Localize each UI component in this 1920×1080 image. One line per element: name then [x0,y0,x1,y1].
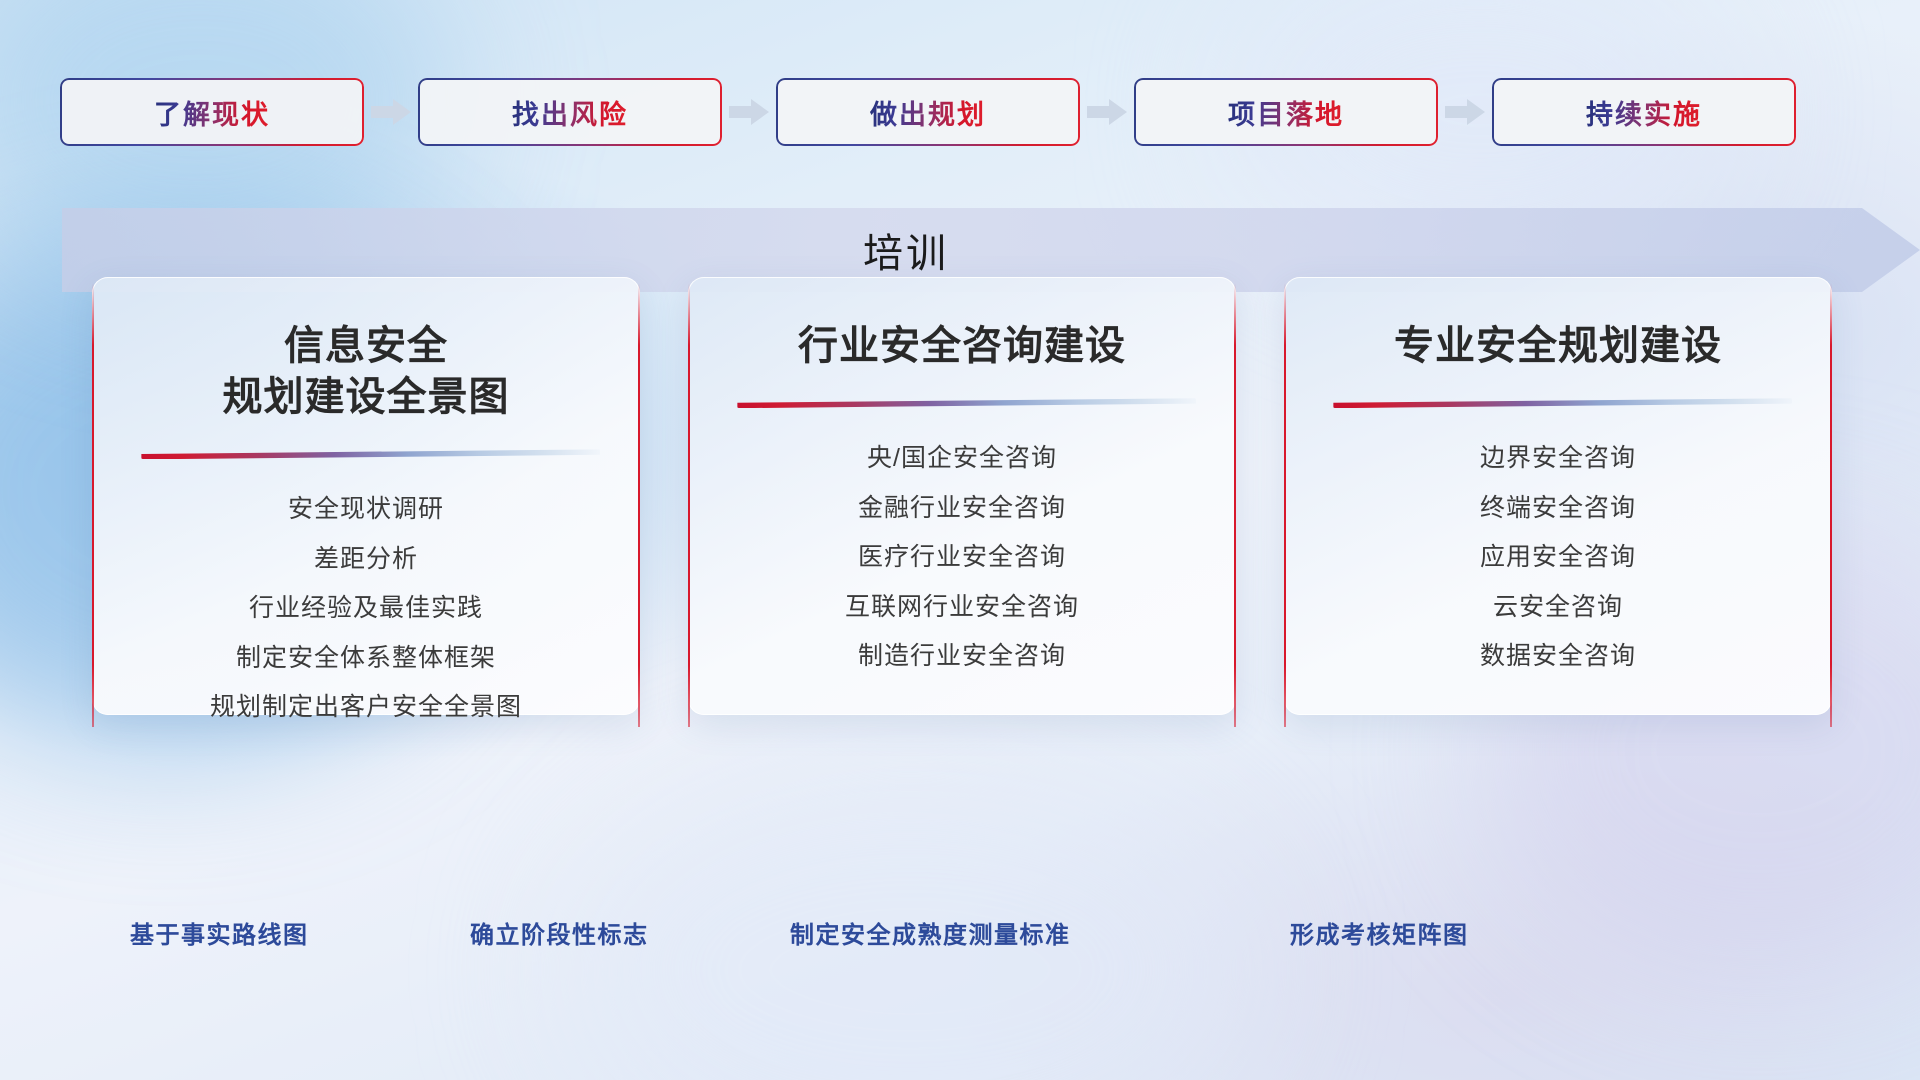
step-label: 了解现状 [154,93,270,132]
footnote-3: 制定安全成熟度测量标准 [790,915,1071,950]
step-item-2[interactable]: 找出风险 [418,78,722,146]
footnote-1: 基于事实路线图 [130,915,309,950]
card-left-rail [1284,283,1286,727]
list-item: 规划制定出客户安全全景图 [210,687,522,728]
step-label: 找出风险 [512,93,628,132]
card-item-list: 边界安全咨询 终端安全咨询 应用安全咨询 云安全咨询 数据安全咨询 [1314,438,1802,677]
step-label: 持续实施 [1586,93,1702,132]
step-item-1[interactable]: 了解现状 [60,78,364,146]
card-divider [1324,392,1792,418]
card-item-list: 央/国企安全咨询 金融行业安全咨询 医疗行业安全咨询 互联网行业安全咨询 制造行… [718,438,1206,677]
footnote-2: 确立阶段性标志 [470,915,649,950]
step-item-5[interactable]: 持续实施 [1492,78,1796,146]
arrow-right-icon [1080,78,1134,146]
card-left-rail [688,283,690,727]
card-right-rail [1234,283,1236,727]
step-item-4[interactable]: 项目落地 [1134,78,1438,146]
list-item: 边界安全咨询 [1480,438,1636,479]
footnote-row: 基于事实路线图 确立阶段性标志 制定安全成熟度测量标准 形成考核矩阵图 [0,915,1920,965]
list-item: 制造行业安全咨询 [858,636,1066,677]
step-label: 项目落地 [1228,93,1344,132]
list-item: 行业经验及最佳实践 [249,588,483,629]
card-3[interactable]: 专业安全规划建设 边界安全咨询 终端安全咨询 应用安全咨询 云安全咨询 数据安全… [1284,277,1832,715]
list-item: 数据安全咨询 [1480,636,1636,677]
slide-canvas: 了解现状 找出风险 做出规划 项目落地 [0,0,1920,1080]
list-item: 医疗行业安全咨询 [858,537,1066,578]
step-item-3[interactable]: 做出规划 [776,78,1080,146]
list-item: 应用安全咨询 [1480,537,1636,578]
card-right-rail [1830,283,1832,727]
step-label: 做出规划 [870,93,986,132]
card-left-rail [92,283,94,727]
list-item: 安全现状调研 [288,489,444,530]
list-item: 央/国企安全咨询 [867,438,1057,479]
card-divider [728,392,1196,418]
card-divider [132,443,600,469]
footnote-4: 形成考核矩阵图 [1290,915,1469,950]
process-step-flow: 了解现状 找出风险 做出规划 项目落地 [60,78,1860,146]
card-right-rail [638,283,640,727]
card-2[interactable]: 行业安全咨询建设 央/国企安全咨询 金融行业安全咨询 医疗行业安全咨询 互联网行… [688,277,1236,715]
list-item: 云安全咨询 [1493,587,1623,628]
card-item-list: 安全现状调研 差距分析 行业经验及最佳实践 制定安全体系整体框架 规划制定出客户… [122,489,610,728]
list-item: 互联网行业安全咨询 [845,587,1079,628]
list-item: 终端安全咨询 [1480,488,1636,529]
card-title: 专业安全规划建设 [1314,321,1802,372]
list-item: 差距分析 [314,539,418,580]
list-item: 金融行业安全咨询 [858,488,1066,529]
card-title: 信息安全 规划建设全景图 [122,321,610,423]
list-item: 制定安全体系整体框架 [236,638,496,679]
arrow-right-icon [1438,78,1492,146]
card-group: 信息安全 规划建设全景图 安全现状调研 差距分析 行业经验及最佳实践 制定安全体… [92,277,1832,715]
arrow-right-icon [364,78,418,146]
arrow-right-icon [722,78,776,146]
card-1[interactable]: 信息安全 规划建设全景图 安全现状调研 差距分析 行业经验及最佳实践 制定安全体… [92,277,640,715]
card-title: 行业安全咨询建设 [718,321,1206,372]
